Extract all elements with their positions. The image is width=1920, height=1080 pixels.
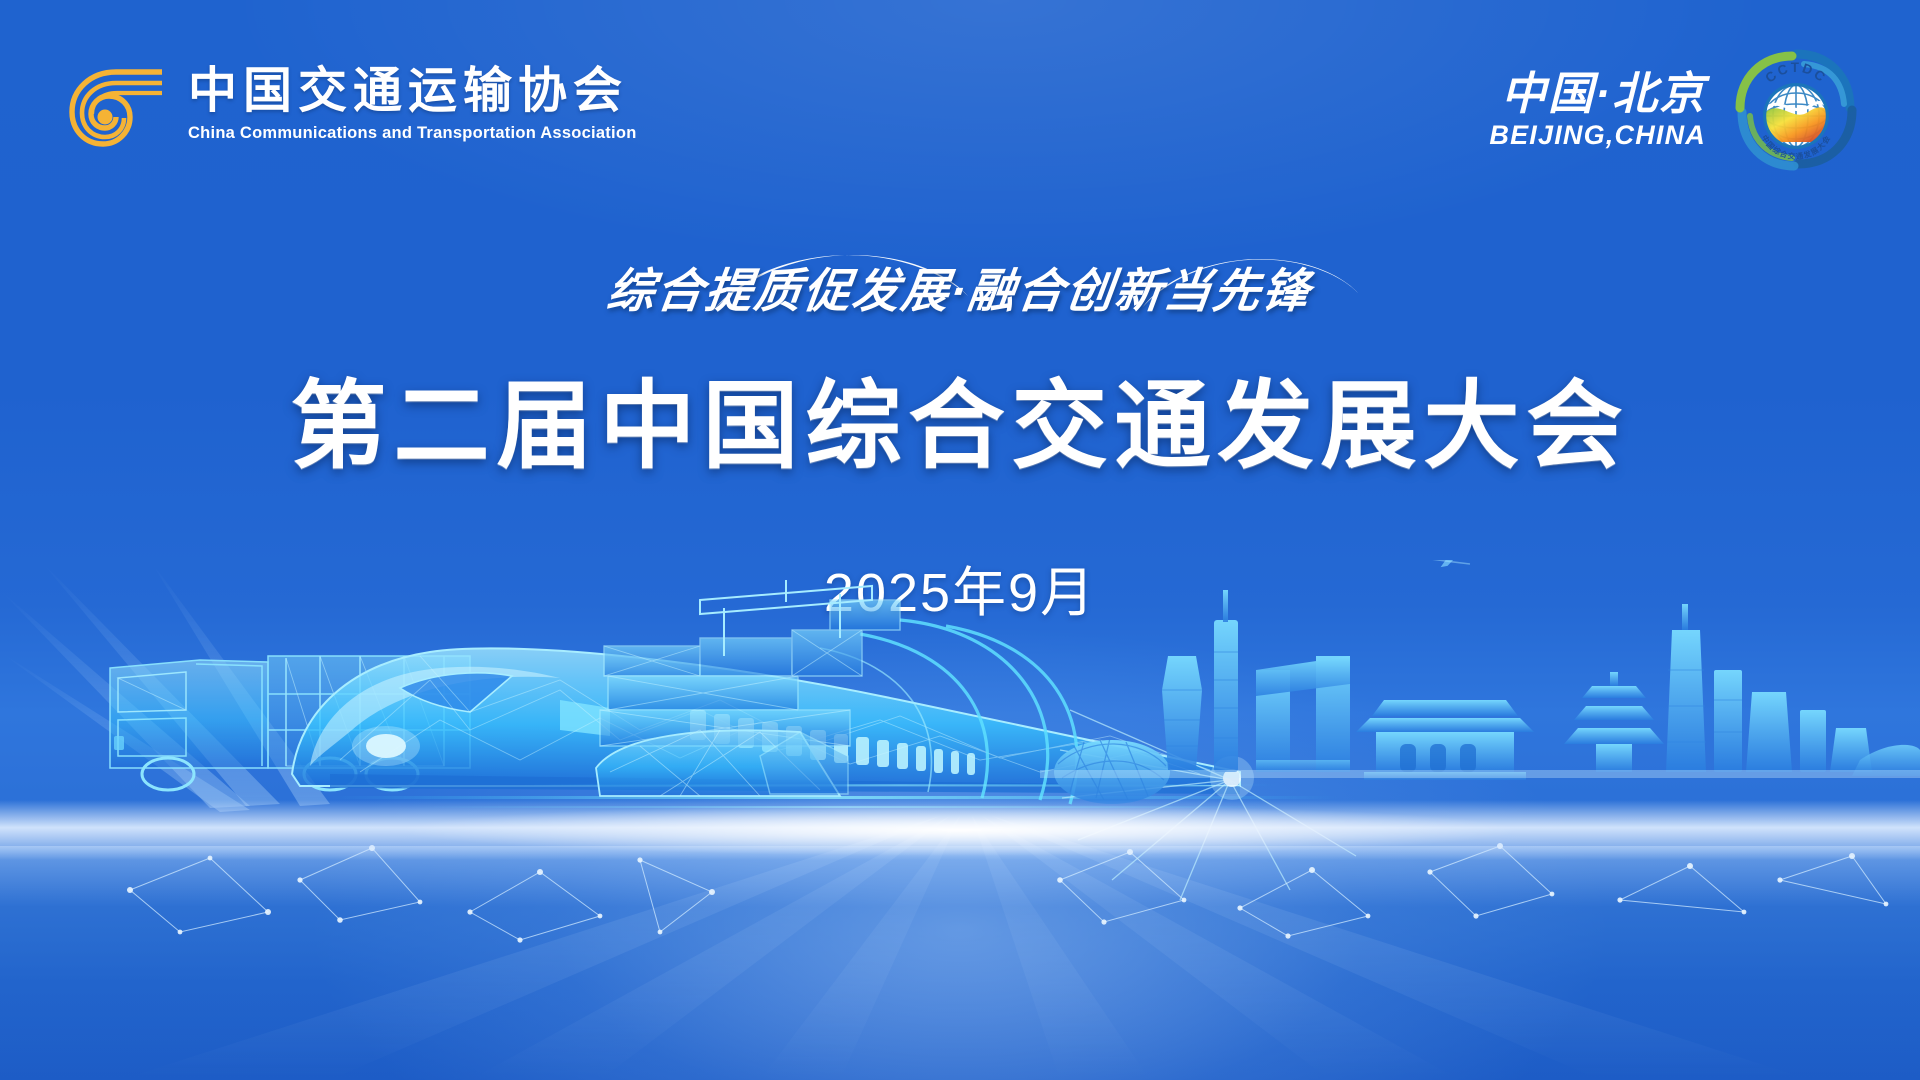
spiral-road-logo-icon bbox=[58, 62, 170, 158]
brush-swoosh-icon bbox=[706, 248, 1006, 318]
cctdc-globe-emblem-icon: CCTDC 中国综合交通发展大会 bbox=[1732, 46, 1860, 174]
tiananmen-gate-icon bbox=[1356, 700, 1534, 780]
network-constellation-icon bbox=[130, 846, 1886, 940]
event-title: 第二届中国综合交通发展大会 bbox=[291, 348, 1630, 487]
horizon-core-glow bbox=[370, 804, 1550, 856]
host-city-text: 中国·北京 BEIJING,CHINA bbox=[1489, 69, 1706, 152]
host-city-name-en: BEIJING,CHINA bbox=[1489, 120, 1706, 151]
cctv-headquarters-icon bbox=[1256, 656, 1350, 772]
event-slogan: 综合提质促发展·融合创新当先锋 bbox=[604, 252, 1316, 321]
cbd-tower-icon bbox=[1214, 590, 1238, 772]
temple-of-heaven-icon bbox=[1564, 672, 1664, 772]
association-name-cn: 中国交通运输协会 bbox=[188, 66, 637, 117]
slogan-wrap: 综合提质促发展·融合创新当先锋 bbox=[0, 252, 1920, 321]
conference-key-visual: 中国交通运输协会 China Communications and Transp… bbox=[0, 0, 1920, 1080]
host-city-block: 中国·北京 BEIJING,CHINA bbox=[1489, 46, 1860, 174]
header: 中国交通运输协会 China Communications and Transp… bbox=[0, 0, 1920, 200]
china-zun-tower-icon bbox=[1162, 656, 1202, 770]
association-name-block: 中国交通运输协会 China Communications and Transp… bbox=[188, 62, 637, 143]
brush-swoosh-icon bbox=[1138, 252, 1368, 314]
host-city-name-cn: 中国·北京 bbox=[1489, 69, 1706, 119]
association-name-en: China Communications and Transportation … bbox=[188, 124, 637, 143]
association-logo: 中国交通运输协会 China Communications and Transp… bbox=[58, 62, 637, 158]
scene bbox=[0, 560, 1920, 1080]
title-wrap: 第二届中国综合交通发展大会 bbox=[0, 348, 1920, 487]
cbd-towers-icon bbox=[1666, 604, 1872, 772]
contrail-icon bbox=[1270, 560, 1520, 564]
